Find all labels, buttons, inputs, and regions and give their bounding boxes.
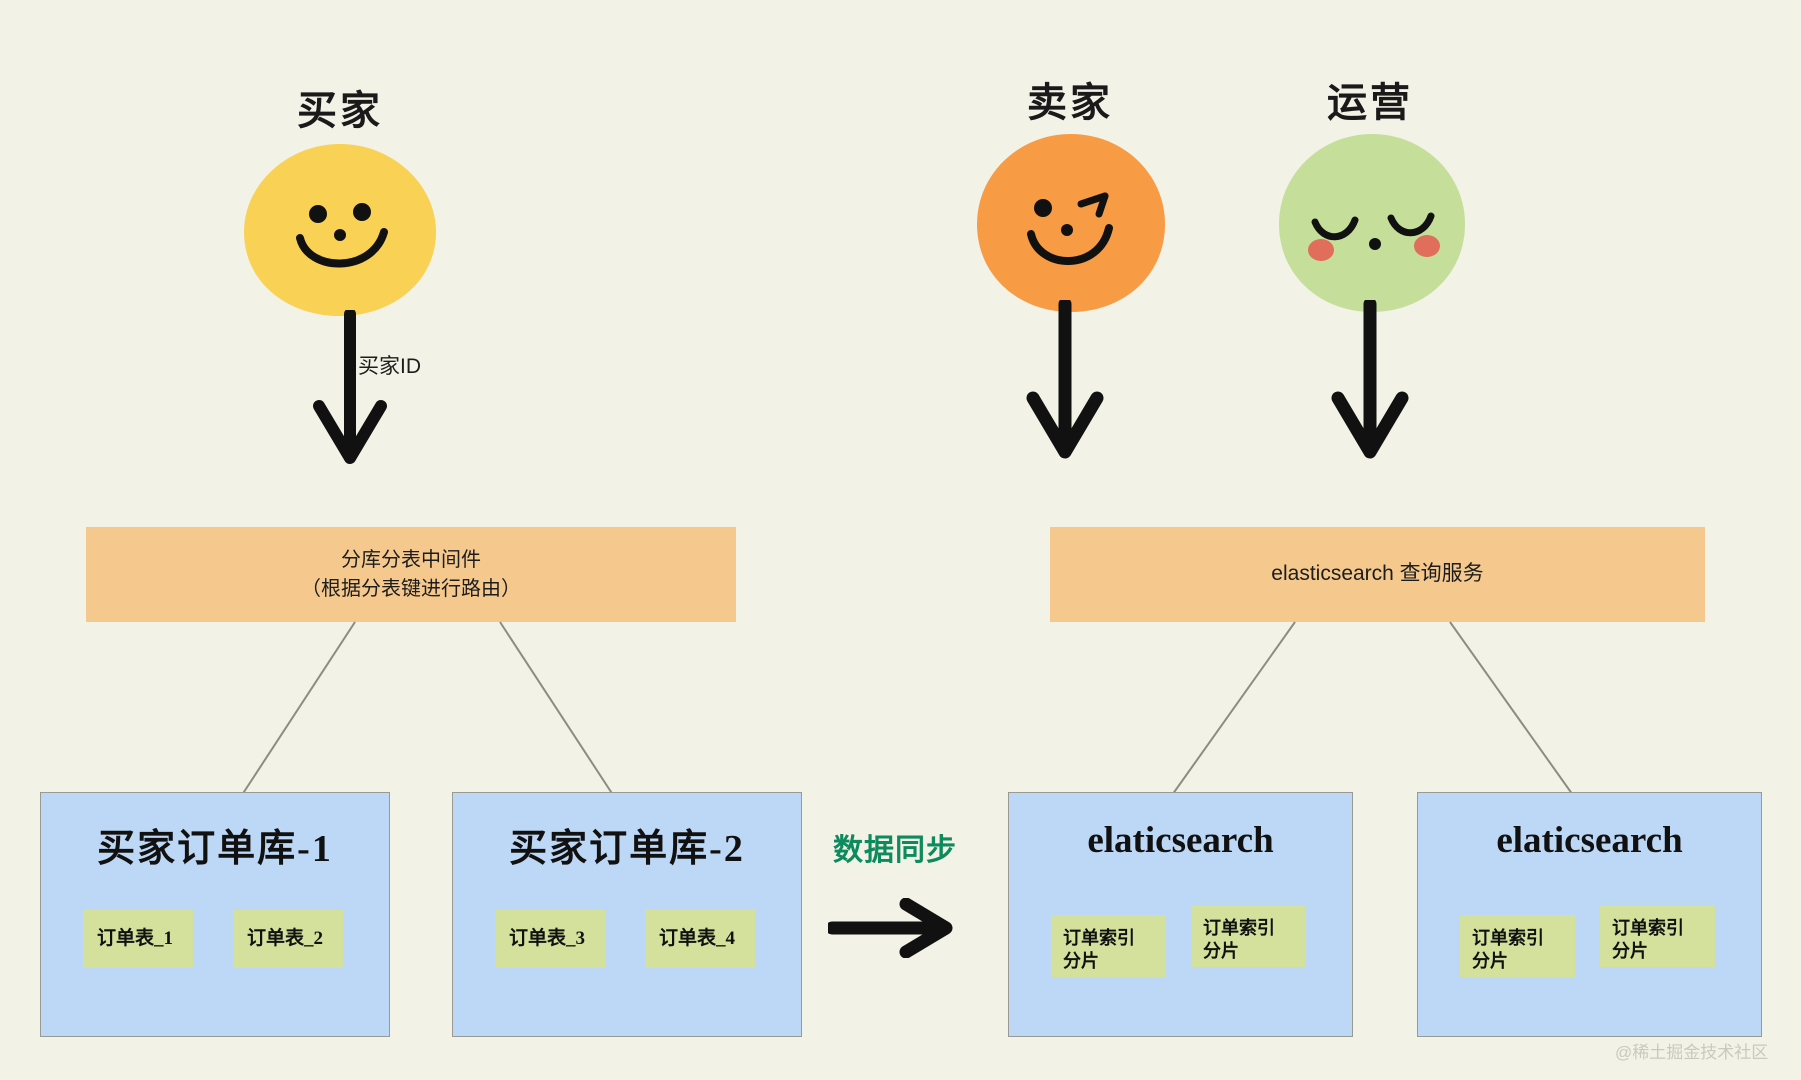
service-line: elasticsearch 查询服务: [1271, 559, 1483, 589]
actor-title-buyer: 买家: [245, 78, 435, 136]
diagram-canvas: 买家 卖家 运营 买家ID: [0, 0, 1801, 1080]
store-elasticsearch-node-1[interactable]: elaticsearch 订单索引 分片 订单索引 分片: [1008, 792, 1353, 1037]
shard-chip[interactable]: 订单表_2: [233, 910, 343, 968]
watermark: @稀土掘金技术社区: [1615, 1038, 1768, 1063]
shard-chip[interactable]: 订单表_4: [645, 910, 755, 968]
shard-label: 分片: [1612, 941, 1648, 961]
arrow-label-buyer-id: 买家ID: [358, 350, 421, 380]
avatar-buyer: [240, 140, 440, 320]
store-title: elaticsearch: [1009, 819, 1352, 862]
shard-label: 分片: [1472, 951, 1508, 971]
shard-label: 订单表_3: [509, 927, 585, 951]
arrow-buyer-to-middleware: [305, 310, 395, 470]
shard-chip[interactable]: 订单索引 分片: [1051, 915, 1166, 977]
shard-chip[interactable]: 订单索引 分片: [1460, 915, 1575, 977]
connector-es-service-to-nodes: [1030, 620, 1730, 800]
store-elasticsearch-node-2[interactable]: elaticsearch 订单索引 分片 订单索引 分片: [1417, 792, 1762, 1037]
connector-middleware-to-dbs: [60, 620, 760, 800]
shard-label: 订单表_1: [97, 927, 173, 951]
store-title: 买家订单库-1: [41, 817, 389, 872]
store-buyer-order-db-1[interactable]: 买家订单库-1 订单表_1 订单表_2: [40, 792, 390, 1037]
shard-label: 分片: [1203, 941, 1239, 961]
shard-label: 订单表_2: [247, 927, 323, 951]
service-line: （根据分表键进行路由）: [301, 575, 521, 604]
shard-chip[interactable]: 订单表_3: [495, 910, 605, 968]
store-buyer-order-db-2[interactable]: 买家订单库-2 订单表_3 订单表_4: [452, 792, 802, 1037]
shard-label: 分片: [1063, 951, 1099, 971]
service-sharding-middleware[interactable]: 分库分表中间件 （根据分表键进行路由）: [86, 527, 736, 622]
shard-label: 订单表_4: [659, 927, 735, 951]
store-title: elaticsearch: [1418, 819, 1761, 862]
shard-label: 订单索引: [1203, 918, 1275, 938]
sync-label: 数据同步: [833, 825, 957, 869]
shard-chip[interactable]: 订单索引 分片: [1191, 905, 1306, 967]
actor-title-ops: 运营: [1275, 70, 1465, 128]
arrow-ops-to-es-service: [1325, 300, 1415, 465]
service-line: 分库分表中间件: [301, 546, 521, 575]
shard-label: 订单索引: [1612, 918, 1684, 938]
service-elasticsearch-query[interactable]: elasticsearch 查询服务: [1050, 527, 1705, 622]
avatar-ops: [1275, 130, 1469, 316]
shard-chip[interactable]: 订单索引 分片: [1600, 905, 1715, 967]
shard-chip[interactable]: 订单表_1: [83, 910, 193, 968]
right-arrow-icon: [828, 898, 958, 958]
shard-label: 订单索引: [1472, 928, 1544, 948]
avatar-seller: [973, 130, 1169, 316]
actor-title-seller: 卖家: [975, 70, 1165, 128]
store-title: 买家订单库-2: [453, 817, 801, 872]
shard-label: 订单索引: [1063, 928, 1135, 948]
arrow-seller-to-es-service: [1020, 300, 1110, 465]
